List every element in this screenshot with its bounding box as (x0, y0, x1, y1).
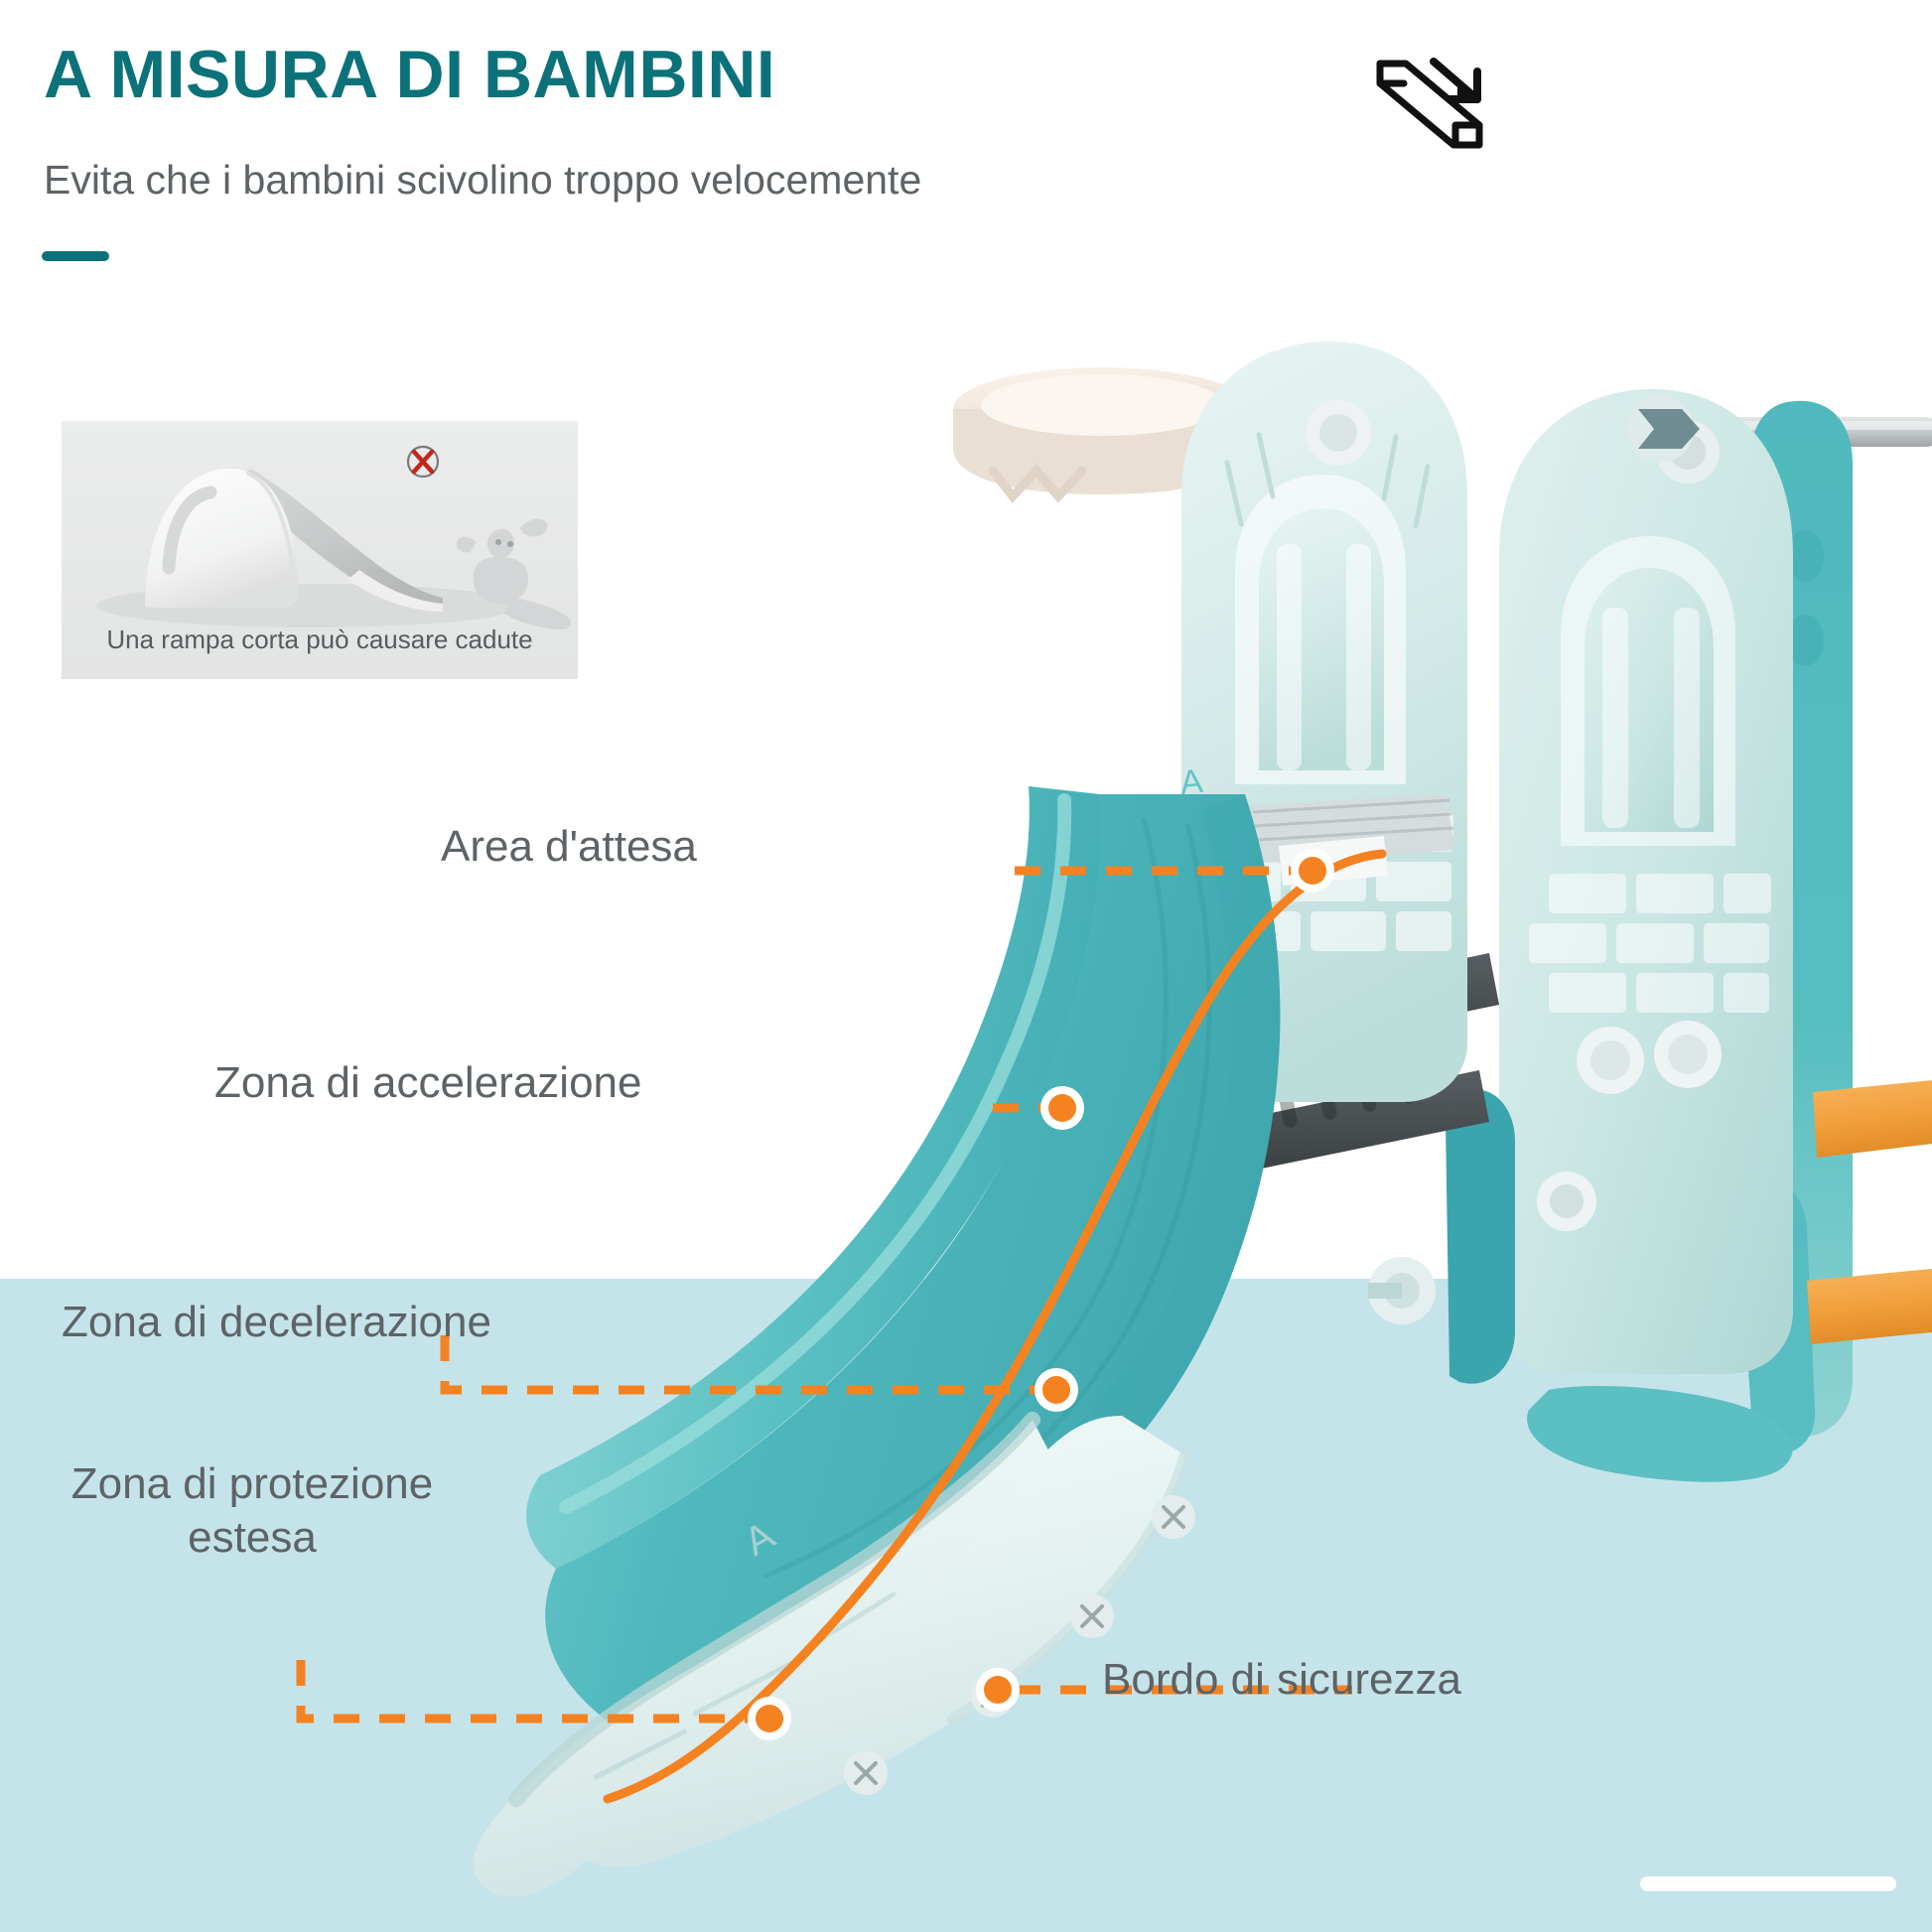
callout-marker-dot (1291, 849, 1334, 893)
escalator-down-icon (1368, 34, 1497, 153)
ladder-steps (1237, 946, 1499, 1172)
red-x-forbidden-icon (404, 443, 442, 481)
swing-frame-panel (1499, 389, 1793, 1374)
callout-label-safety-edge: Bordo di sicurezza (1102, 1653, 1461, 1707)
callout-marker-dot (1040, 1086, 1084, 1130)
lower-background-band (0, 1279, 1932, 1932)
page-title: A MISURA DI BAMBINI (44, 36, 775, 113)
infographic-page: A A (0, 0, 1932, 1932)
inset-caption: Una rampa corta può causare cadute (62, 624, 578, 655)
slide-frame-panel (1181, 342, 1467, 1102)
callout-label-deceleration-zone: Zona di decelerazione (62, 1296, 491, 1349)
scroll-progress-indicator[interactable] (1640, 1876, 1896, 1891)
page-subtitle: Evita che i bambini scivolino troppo vel… (44, 157, 921, 204)
callout-label-waiting-area: Area d'attesa (441, 820, 697, 874)
accessory-tray (953, 367, 1251, 496)
swing-top-bar (1693, 417, 1932, 447)
slide-platform (1237, 794, 1455, 872)
callout-label-acceleration-zone: Zona di accelerazione (214, 1056, 641, 1110)
svg-text:A: A (1178, 762, 1205, 802)
warning-inset-card: Una rampa corta può causare cadute (62, 421, 578, 679)
title-underline-rule (42, 251, 109, 261)
callout-label-extended-protection-zone: Zona di protezione estesa (4, 1457, 500, 1564)
